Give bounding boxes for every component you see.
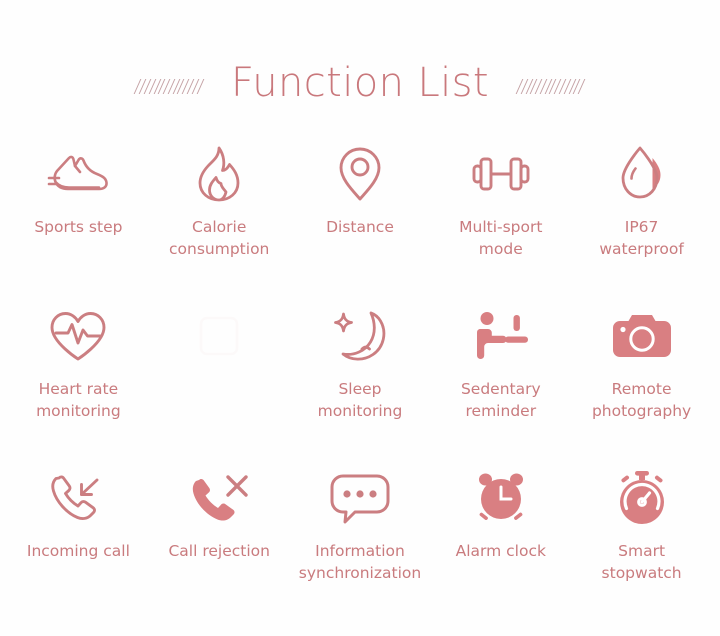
feature-item-stopwatch[interactable]: Smartstopwatch <box>571 456 712 618</box>
feature-label: Heart ratemonitoring <box>36 378 121 422</box>
running-shoe-icon <box>40 138 116 210</box>
feature-item-running-shoe[interactable]: Sports step <box>8 132 149 294</box>
feature-row: Incoming call Call rejection Information… <box>8 456 712 618</box>
moon-star-icon <box>322 300 398 372</box>
alarm-clock-icon <box>463 462 539 534</box>
feature-label: Multi-sportmode <box>459 216 542 260</box>
feature-label: Informationsynchronization <box>299 540 421 584</box>
heart-pulse-icon <box>40 300 116 372</box>
slash-decoration-right <box>519 70 583 96</box>
feature-label: Call rejection <box>168 540 269 562</box>
feature-row: Sports step Calorieconsumption Distance … <box>8 132 712 294</box>
incoming-call-icon <box>40 462 116 534</box>
feature-label: Calorieconsumption <box>169 216 269 260</box>
feature-label: Sports step <box>34 216 122 238</box>
feature-grid: Sports step Calorieconsumption Distance … <box>8 132 712 618</box>
feature-label: Sedentaryreminder <box>461 378 541 422</box>
stopwatch-icon <box>604 462 680 534</box>
feature-item-heart-pulse[interactable]: Heart ratemonitoring <box>8 294 149 456</box>
feature-item-call-reject[interactable]: Call rejection <box>149 456 290 618</box>
water-drop-icon <box>604 138 680 210</box>
feature-item-water-drop[interactable]: IP67waterproof <box>571 132 712 294</box>
feature-item-alarm-clock[interactable]: Alarm clock <box>430 456 571 618</box>
feature-item-camera[interactable]: Remotephotography <box>571 294 712 456</box>
feature-item-moon-star[interactable]: Sleepmonitoring <box>290 294 431 456</box>
feature-item-dumbbell[interactable]: Multi-sportmode <box>430 132 571 294</box>
feature-label: Remotephotography <box>592 378 691 422</box>
feature-item-speech-bubble[interactable]: Informationsynchronization <box>290 456 431 618</box>
feature-item-faded-blank[interactable] <box>149 294 290 456</box>
feature-label: Incoming call <box>27 540 130 562</box>
call-reject-icon <box>181 462 257 534</box>
faded-blank-icon <box>181 300 257 372</box>
feature-item-flame[interactable]: Calorieconsumption <box>149 132 290 294</box>
feature-item-sedentary-person[interactable]: Sedentaryreminder <box>430 294 571 456</box>
flame-icon <box>181 138 257 210</box>
feature-label: Smartstopwatch <box>602 540 682 584</box>
feature-label: Alarm clock <box>456 540 546 562</box>
feature-row: Heart ratemonitoring Sleepmonitoring Sed… <box>8 294 712 456</box>
feature-label: Sleepmonitoring <box>318 378 403 422</box>
page-title: Function List <box>231 63 489 103</box>
location-pin-icon <box>322 138 398 210</box>
dumbbell-icon <box>463 138 539 210</box>
camera-icon <box>604 300 680 372</box>
feature-item-incoming-call[interactable]: Incoming call <box>8 456 149 618</box>
feature-label: Distance <box>326 216 394 238</box>
feature-label: IP67waterproof <box>599 216 683 260</box>
function-list-page: Function List Sports step Calorieconsump… <box>0 0 720 636</box>
slash-decoration-left <box>137 70 201 96</box>
sedentary-person-icon <box>463 300 539 372</box>
feature-item-location-pin[interactable]: Distance <box>290 132 431 294</box>
page-header: Function List <box>0 52 720 114</box>
speech-bubble-icon <box>322 462 398 534</box>
